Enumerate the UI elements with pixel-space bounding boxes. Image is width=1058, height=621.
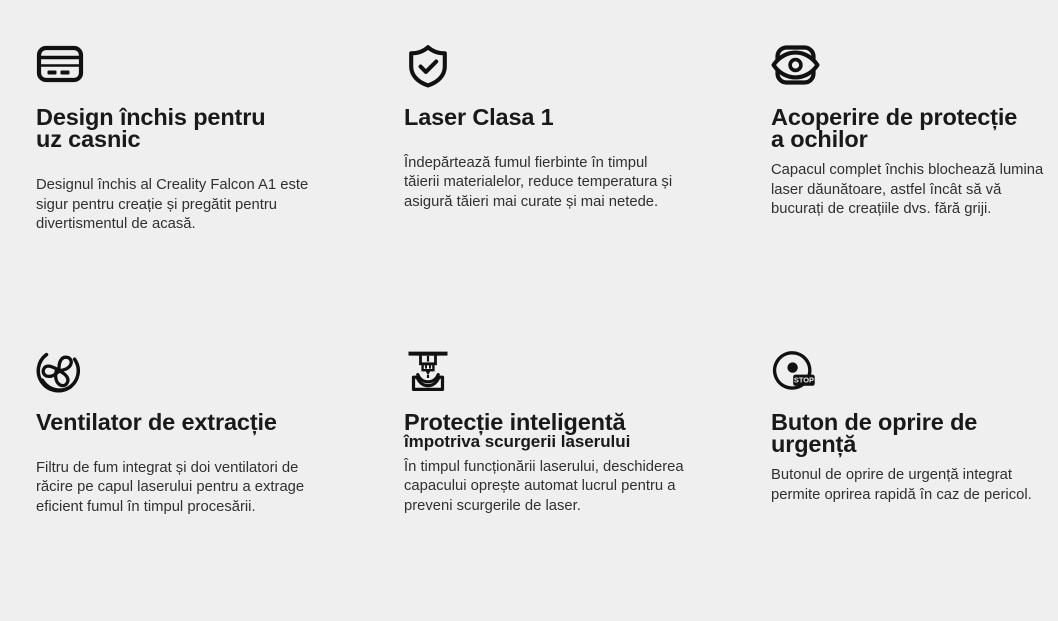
emergency-stop-icon: STOP <box>771 349 1058 397</box>
enclosed-case-icon <box>36 44 326 92</box>
feature-card-laser-class-1: Laser Clasa 1 Îndepărtează fumul fierbin… <box>404 44 694 212</box>
feature-description: Designul închis al Creality Falcon A1 es… <box>36 176 318 234</box>
feature-card-smart-laser-leak-protection: Protecție inteligentăîmpotriva scurgerii… <box>404 349 694 516</box>
feature-title: Acoperire de protecțiea ochilor <box>771 106 1058 150</box>
laser-head-protection-icon <box>404 349 694 397</box>
extraction-fan-icon <box>36 349 326 397</box>
feature-title: Ventilator de extracție <box>36 411 324 433</box>
feature-card-extraction-fan: Ventilator de extracție Filtru de fum in… <box>36 349 326 517</box>
feature-title-line-2: a ochilor <box>771 126 868 152</box>
feature-description: Îndepărtează fumul fierbinte în timpul t… <box>404 154 686 212</box>
feature-title: Protecție inteligentăîmpotriva scurgerii… <box>404 411 692 450</box>
feature-title-line-1: Ventilator de extracție <box>36 409 277 435</box>
feature-title-line-2: urgență <box>771 431 856 457</box>
feature-title-line-2: împotriva scurgerii laserului <box>404 433 692 450</box>
feature-card-emergency-stop: STOP Buton de oprire deurgență Butonul d… <box>771 349 1058 505</box>
feature-title-line-2: uz casnic <box>36 126 140 152</box>
feature-title: Design închis pentruuz casnic <box>36 106 324 150</box>
stop-badge-text: STOP <box>794 376 814 385</box>
feature-title: Buton de oprire deurgență <box>771 411 1058 455</box>
feature-card-eye-protection: Acoperire de protecțiea ochilor Capacul … <box>771 44 1058 219</box>
shield-check-icon <box>404 44 694 92</box>
feature-description: Capacul complet închis blochează lumina … <box>771 161 1053 219</box>
feature-title: Laser Clasa 1 <box>404 106 692 128</box>
feature-description: Butonul de oprire de urgență integrat pe… <box>771 466 1053 505</box>
eye-protection-icon <box>771 44 1058 92</box>
feature-title-line-1: Laser Clasa 1 <box>404 104 554 130</box>
feature-description: În timpul funcționării laserului, deschi… <box>404 458 686 516</box>
feature-card-enclosed-design: Design închis pentruuz casnic Designul î… <box>36 44 326 234</box>
feature-description: Filtru de fum integrat și doi ventilator… <box>36 459 318 517</box>
feature-grid: Design închis pentruuz casnic Designul î… <box>0 0 1058 621</box>
